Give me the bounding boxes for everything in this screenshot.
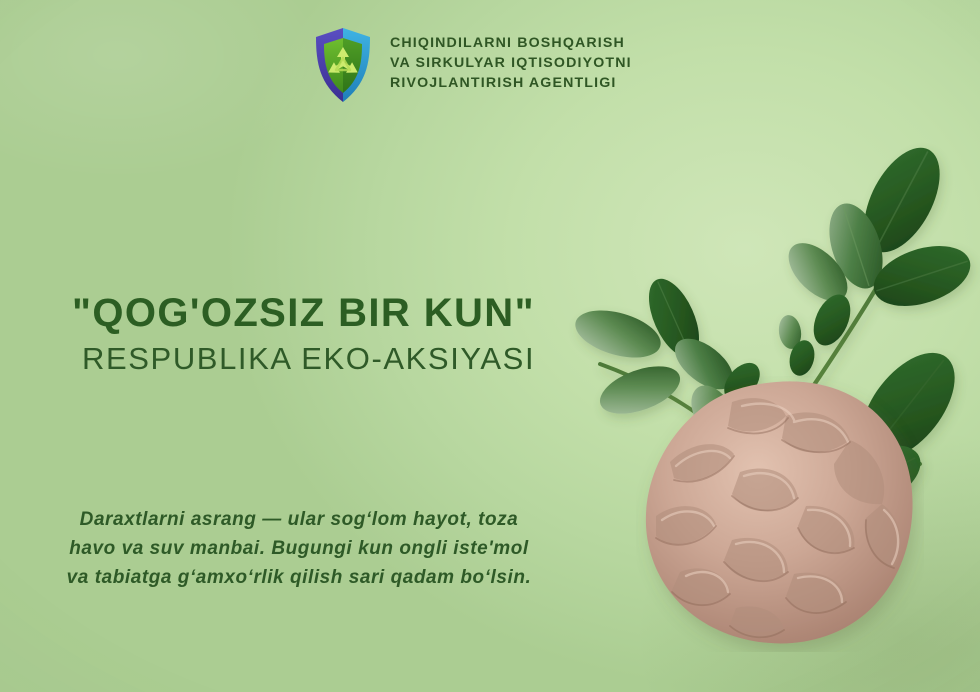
agency-name-line-3: RIVOJLANTIRISH AGENTLIGI	[390, 73, 632, 93]
agency-name-line-2: VA SIRKULYAR IQTISODIYOTNI	[390, 53, 632, 73]
headline-block: "QOG'OZSIZ BIR KUN" RESPUBLIKA EKO-AKSIY…	[72, 292, 552, 376]
recycling-shield-logo-icon	[312, 26, 374, 104]
agency-name: CHIQINDILARNI BOSHQARISH VA SIRKULYAR IQ…	[390, 33, 632, 93]
agency-name-line-1: CHIQINDILARNI BOSHQARISH	[390, 33, 632, 53]
agency-header: CHIQINDILARNI BOSHQARISH VA SIRKULYAR IQ…	[312, 26, 632, 104]
campaign-headline: "QOG'OZSIZ BIR KUN"	[72, 292, 552, 334]
campaign-subheadline: RESPUBLIKA EKO-AKSIYASI	[82, 342, 552, 376]
campaign-body-text: Daraxtlarni asrang — ular sog‘lom hayot,…	[64, 506, 534, 593]
crumpled-paper-ball	[636, 376, 924, 652]
eco-campaign-poster: CHIQINDILARNI BOSHQARISH VA SIRKULYAR IQ…	[0, 0, 980, 692]
